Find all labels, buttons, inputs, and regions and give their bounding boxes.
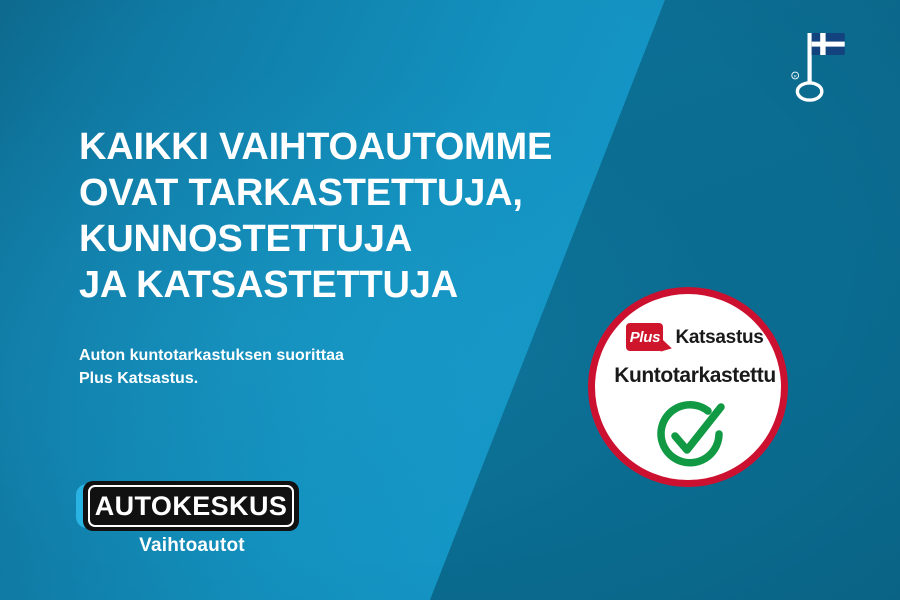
subtitle-line-2: Plus Katsastus. <box>79 367 499 390</box>
subtitle: Auton kuntotarkastuksen suorittaa Plus K… <box>79 344 499 390</box>
plus-katsastus-badge: Plus Katsastus Kuntotarkastettu <box>588 287 788 487</box>
subtitle-line-1: Auton kuntotarkastuksen suorittaa <box>79 344 499 367</box>
logo-plate: AUTOKESKUS <box>83 481 299 531</box>
headline-line-3: KUNNOSTETTUJA <box>79 216 679 262</box>
plus-bubble-icon: Plus <box>626 323 663 351</box>
katsastus-label: Katsastus <box>668 328 763 347</box>
promo-banner: R KAIKKI VAIHTOAUTOMME OVAT TARKASTETTUJ… <box>0 0 900 600</box>
headline-line-2: OVAT TARKASTETTUJA, <box>79 170 679 216</box>
logo-wordmark: AUTOKESKUS <box>95 493 288 520</box>
check-circle-icon <box>645 398 745 478</box>
avainlippu-key-flag-icon: R <box>786 27 856 105</box>
logo-tagline: Vaihtoautot <box>76 535 308 557</box>
badge-brand-lockup: Plus Katsastus <box>595 323 795 351</box>
plus-label: Plus <box>630 330 660 345</box>
headline-line-1: KAIKKI VAIHTOAUTOMME <box>79 124 679 170</box>
autokeskus-logo[interactable]: AUTOKESKUS Vaihtoautot <box>76 481 308 553</box>
badge-claim-text: Kuntotarkastettu <box>595 364 795 388</box>
svg-text:R: R <box>794 74 797 79</box>
headline: KAIKKI VAIHTOAUTOMME OVAT TARKASTETTUJA,… <box>79 124 679 308</box>
headline-line-4: JA KATSASTETTUJA <box>79 262 679 308</box>
